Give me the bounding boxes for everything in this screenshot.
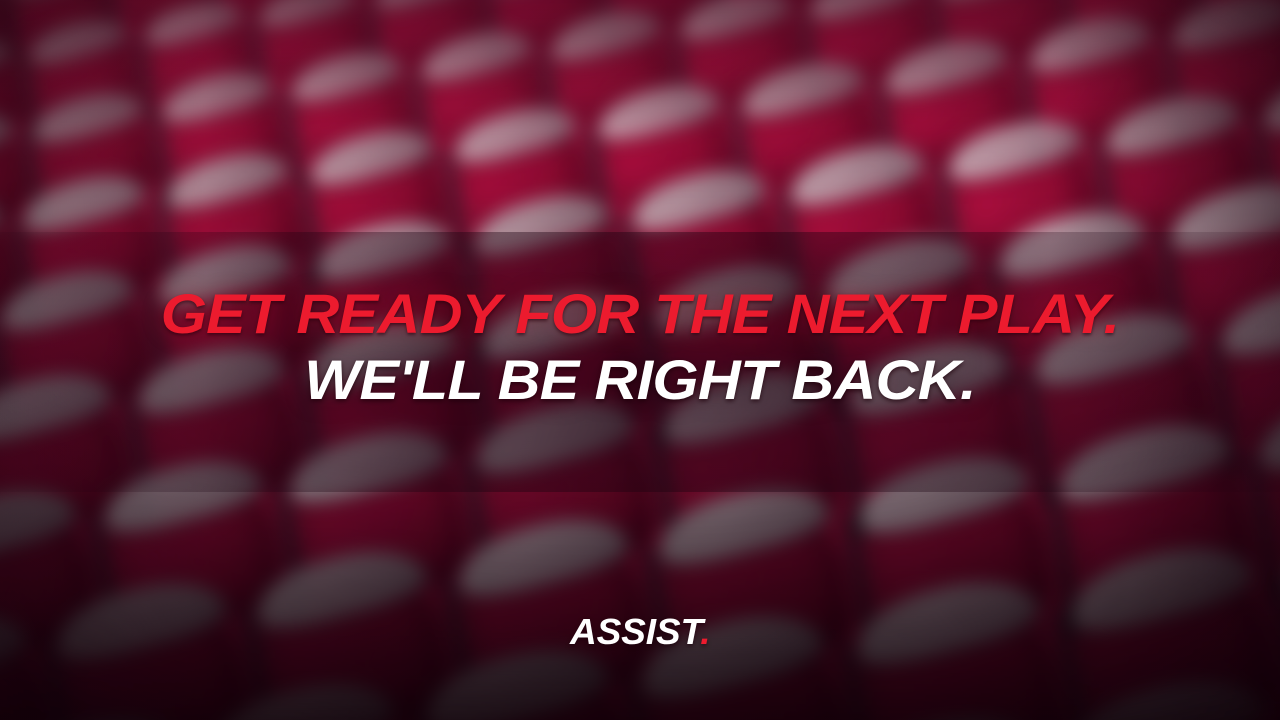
logo-lockup: ASSIST. — [570, 614, 710, 650]
logo-wordmark: ASSIST — [570, 611, 700, 652]
stadium-seat — [865, 594, 1066, 720]
interstitial-screen: GET READY FOR THE NEXT PLAY. WE'LL BE RI… — [0, 0, 1280, 720]
assist-logo[interactable]: ASSIST. — [0, 614, 1280, 650]
logo-accent-dot: . — [700, 611, 710, 652]
